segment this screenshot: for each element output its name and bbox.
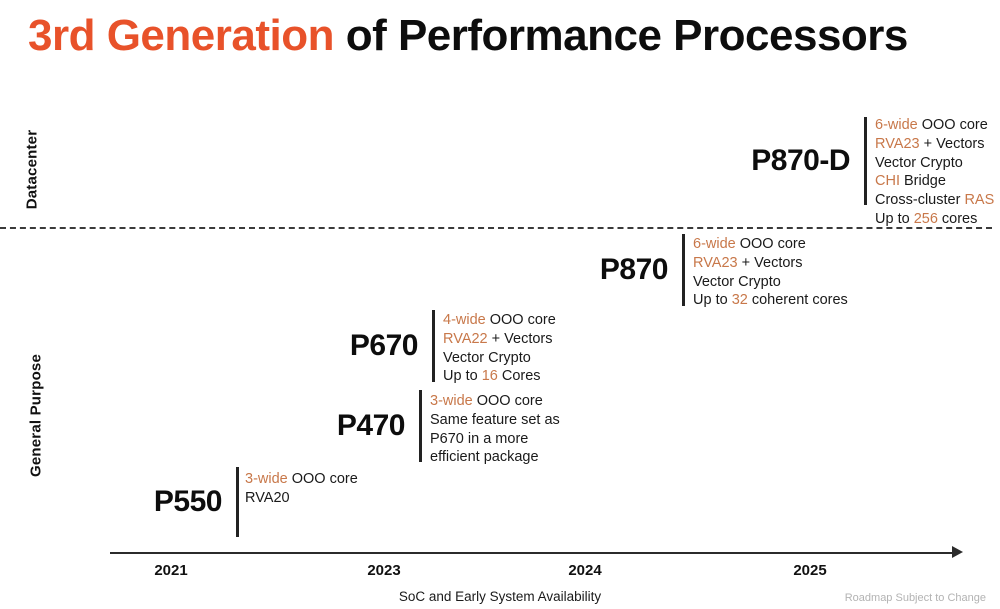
product-name: P870 [600,253,668,287]
product-name: P470 [337,409,405,443]
feature-rule [419,390,422,462]
feature-highlight: 256 [914,211,938,227]
feature-line: P670 in a more [430,430,560,449]
segment-label-datacenter: Datacenter [24,115,41,225]
feature-highlight: CHI [875,173,900,189]
feature-list: 4-wide OOO coreRVA22 + VectorsVector Cry… [443,311,556,386]
timeline-year-2025: 2025 [770,562,850,579]
feature-text: + Vectors [488,331,553,347]
feature-highlight: RAS [964,192,994,208]
feature-line: 6-wide OOO core [693,235,848,254]
feature-text: Cross-cluster [875,192,964,208]
roadmap-row-p550: P550 3-wide OOO coreRVA20 [62,467,236,537]
timeline-year-2021: 2021 [131,562,211,579]
feature-text: OOO core [736,236,806,252]
feature-highlight: RVA23 [875,136,920,152]
feature-text: Vector Crypto [875,155,963,171]
feature-text: Vector Crypto [443,350,531,366]
timeline-year-2023: 2023 [344,562,424,579]
roadmap-row-p670: P670 4-wide OOO coreRVA22 + VectorsVecto… [258,310,432,382]
feature-line: Vector Crypto [443,349,556,368]
feature-highlight: RVA22 [443,331,488,347]
feature-highlight: 16 [482,368,498,384]
roadmap-row-p870d: P870-D 6-wide OOO coreRVA23 + VectorsVec… [690,117,864,205]
feature-line: RVA23 + Vectors [693,254,848,273]
segment-divider [0,227,992,229]
feature-line: efficient package [430,448,560,467]
feature-highlight: 32 [732,292,748,308]
feature-line: Cross-cluster RAS [875,191,994,210]
feature-list: 6-wide OOO coreRVA23 + VectorsVector Cry… [693,235,848,310]
feature-text: Cores [498,368,541,384]
feature-list: 3-wide OOO coreSame feature set asP670 i… [430,392,560,467]
feature-line: 3-wide OOO core [245,470,358,489]
feature-text: OOO core [486,312,556,328]
feature-text: Up to [443,368,482,384]
segment-label-general-purpose: General Purpose [28,341,45,491]
product-name: P550 [154,485,222,519]
feature-line: RVA22 + Vectors [443,330,556,349]
feature-line: Up to 16 Cores [443,367,556,386]
product-name: P670 [350,329,418,363]
feature-text: OOO core [288,471,358,487]
feature-text: cores [938,211,978,227]
feature-highlight: RVA23 [693,255,738,271]
feature-text: Vector Crypto [693,274,781,290]
feature-list: 3-wide OOO coreRVA20 [245,470,358,508]
feature-highlight: 4-wide [443,312,486,328]
feature-line: RVA20 [245,489,358,508]
feature-text: efficient package [430,449,539,465]
feature-line: Same feature set as [430,411,560,430]
feature-text: OOO core [473,393,543,409]
feature-text: RVA20 [245,490,290,506]
feature-line: Up to 32 coherent cores [693,291,848,310]
feature-line: 4-wide OOO core [443,311,556,330]
feature-highlight: 6-wide [875,117,918,133]
timeline-year-2024: 2024 [545,562,625,579]
feature-text: Bridge [900,173,946,189]
page-title-accent: 3rd Generation [28,11,334,60]
timeline-axis [110,552,955,554]
feature-rule [236,467,239,537]
feature-line: RVA23 + Vectors [875,135,994,154]
feature-line: 3-wide OOO core [430,392,560,411]
feature-highlight: 3-wide [245,471,288,487]
feature-rule [682,234,685,306]
feature-line: CHI Bridge [875,172,994,191]
feature-text: coherent cores [748,292,848,308]
roadmap-row-p870: P870 6-wide OOO coreRVA23 + VectorsVecto… [508,234,682,306]
feature-text: Up to [875,211,914,227]
feature-line: 6-wide OOO core [875,116,994,135]
feature-highlight: 3-wide [430,393,473,409]
feature-text: + Vectors [920,136,985,152]
product-name: P870-D [751,144,850,178]
page-title-plain: of Performance Processors [334,11,908,60]
feature-rule [864,117,867,205]
feature-text: + Vectors [738,255,803,271]
feature-line: Vector Crypto [875,154,994,173]
feature-rule [432,310,435,382]
footnote: Roadmap Subject to Change [845,592,986,604]
feature-line: Vector Crypto [693,273,848,292]
page-title: 3rd Generation of Performance Processors [28,8,908,63]
feature-line: Up to 256 cores [875,210,994,229]
feature-list: 6-wide OOO coreRVA23 + VectorsVector Cry… [875,116,994,229]
feature-text: P670 in a more [430,431,528,447]
feature-text: Up to [693,292,732,308]
feature-text: Same feature set as [430,412,560,428]
feature-text: OOO core [918,117,988,133]
feature-highlight: 6-wide [693,236,736,252]
timeline-arrow-icon [952,546,963,558]
roadmap-row-p470: P470 3-wide OOO coreSame feature set asP… [245,390,419,462]
